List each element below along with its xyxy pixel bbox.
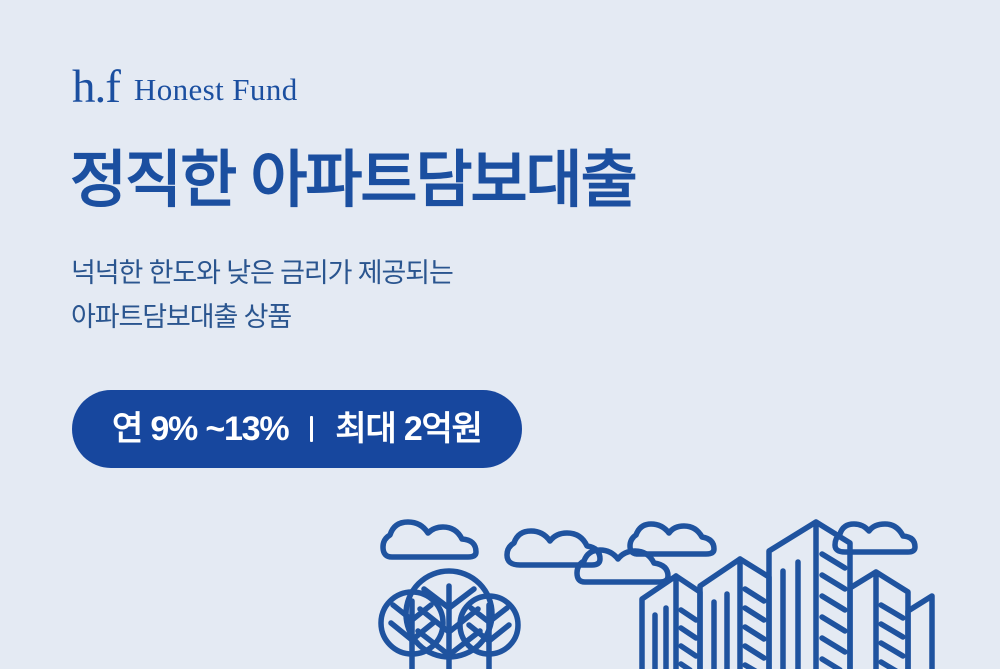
building-icon-4 xyxy=(850,572,876,669)
badge-separator-icon xyxy=(310,416,313,442)
badge-rate: 연 9% ~13% xyxy=(112,412,288,446)
building-icon-5 xyxy=(908,596,932,669)
building-icon-1 xyxy=(642,576,676,669)
building-icon-1b xyxy=(676,576,700,669)
skyline-illustration xyxy=(0,489,1000,669)
promo-banner: h.f Honest Fund 정직한 아파트담보대출 넉넉한 한도와 낮은 금… xyxy=(0,0,1000,669)
brand-logo: h.f Honest Fund xyxy=(72,62,298,114)
badge-content: 연 9% ~13% 최대 2억원 xyxy=(112,412,482,446)
building-icon-2b xyxy=(740,559,769,669)
rate-limit-badge: 연 9% ~13% 최대 2억원 xyxy=(72,390,522,468)
brand-name: Honest Fund xyxy=(134,74,298,105)
building-icon-2 xyxy=(700,559,740,669)
building-icon-3 xyxy=(769,522,816,669)
tree-icon-right xyxy=(460,596,518,669)
badge-limit: 최대 2억원 xyxy=(335,412,481,446)
cloud-icon-left xyxy=(383,522,476,557)
subtitle-line-1: 넉넉한 한도와 낮은 금리가 제공되는 xyxy=(71,252,453,296)
subtitle: 넉넉한 한도와 낮은 금리가 제공되는 아파트담보대출 상품 xyxy=(71,252,453,339)
subtitle-line-2: 아파트담보대출 상품 xyxy=(71,296,453,340)
honest-fund-logo-icon: h.f xyxy=(72,64,120,111)
building-icon-4b xyxy=(876,572,908,669)
page-title: 정직한 아파트담보대출 xyxy=(70,148,636,215)
